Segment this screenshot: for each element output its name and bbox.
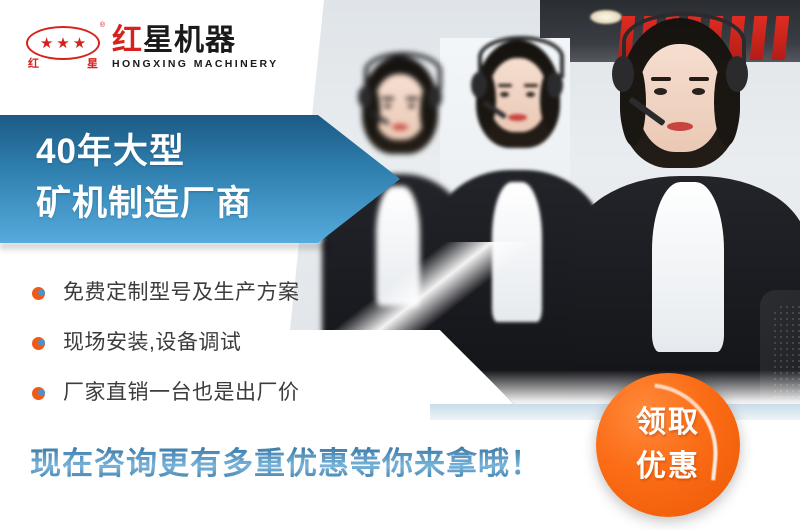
bullet-dot-icon — [32, 287, 45, 300]
logo-wordmark: 红星机器 HONGXING MACHINERY — [112, 25, 278, 70]
list-item: 现场安装,设备调试 — [32, 318, 372, 368]
three-stars-ellipse-icon: ★ ★ ★ ® 红 星 — [26, 20, 100, 74]
feature-list: 免费定制型号及生产方案 现场安装,设备调试 厂家直销一台也是出厂价 — [32, 268, 372, 418]
promo-slogan: 现在咨询更有多重优惠等你来拿哦！ — [30, 443, 542, 485]
cta-line-2: 优惠 — [636, 445, 700, 489]
star-icon: ★ — [73, 36, 86, 51]
promo-banner: n ★ ★ ★ ® 红 星 — [0, 0, 800, 530]
star-icon: ★ — [56, 36, 69, 51]
page-title: 40年大型 矿机制造厂商 — [36, 126, 336, 230]
logo-chars-rest: 星机器 — [143, 24, 236, 57]
star-icon: ★ — [40, 36, 53, 51]
list-item: 免费定制型号及生产方案 — [32, 268, 372, 318]
bullet-dot-icon — [32, 337, 45, 350]
logo-sub-right: 星 — [87, 58, 98, 70]
list-item: 厂家直销一台也是出厂价 — [32, 368, 372, 418]
ceiling-light-icon — [590, 10, 622, 24]
logo-english-name: HONGXING MACHINERY — [112, 58, 278, 70]
registered-mark: ® — [100, 22, 105, 29]
logo-char-hong: 红 — [112, 24, 143, 57]
list-item-label: 免费定制型号及生产方案 — [63, 281, 300, 305]
bullet-dot-icon — [32, 387, 45, 400]
logo-chinese-name: 红星机器 — [112, 25, 278, 56]
cta-line-1: 领取 — [636, 401, 700, 445]
headline-line-1: 40年大型 — [36, 126, 336, 178]
list-item-label: 厂家直销一台也是出厂价 — [63, 381, 300, 405]
headline-line-2: 矿机制造厂商 — [36, 178, 336, 230]
claim-discount-button[interactable]: 领取 优惠 — [596, 373, 740, 517]
headline-band-shadow — [0, 243, 330, 253]
company-logo[interactable]: ★ ★ ★ ® 红 星 红星机器 HONGXING MACHINERY — [26, 20, 278, 74]
list-item-label: 现场安装,设备调试 — [63, 331, 241, 355]
logo-sub-left: 红 — [28, 58, 39, 70]
